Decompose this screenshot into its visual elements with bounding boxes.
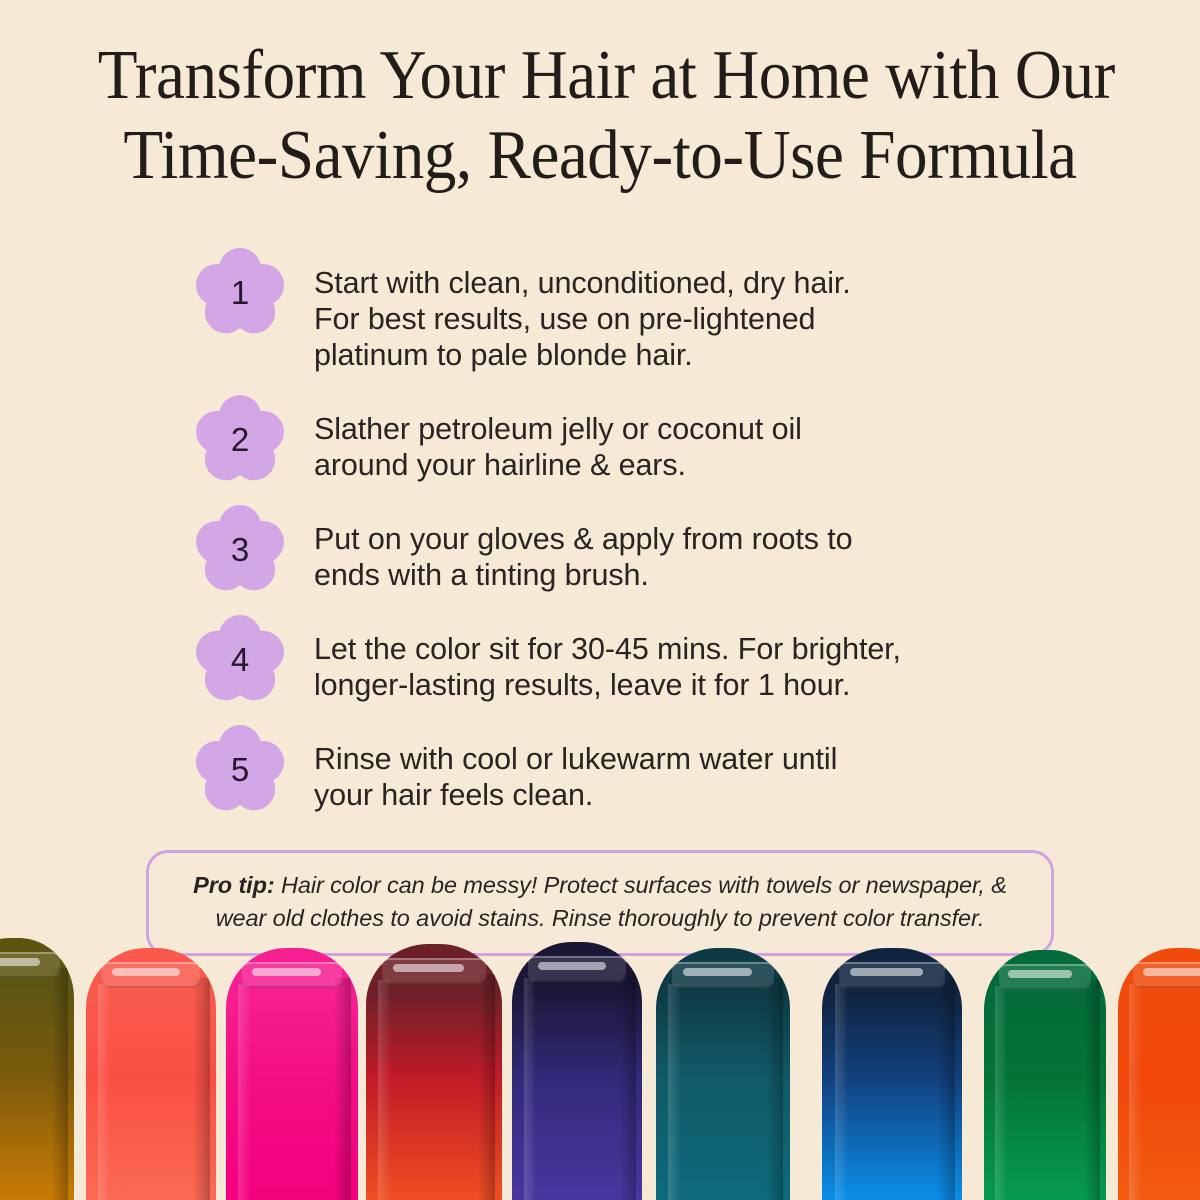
deep-purple-bottle xyxy=(512,942,642,1200)
olive-green-bottle xyxy=(0,938,74,1200)
bottle-shadow xyxy=(334,978,351,1200)
list-item: 1 Start with clean, unconditioned, dry h… xyxy=(196,248,1056,373)
bottle-gloss xyxy=(393,964,464,972)
hot-pink-bottle xyxy=(226,948,358,1200)
bottle-shadow xyxy=(1084,980,1100,1200)
orange-bottle xyxy=(1118,948,1200,1200)
bottle-highlight xyxy=(835,984,848,1200)
title-line-2: Time-Saving, Ready-to-Use Formula xyxy=(98,116,1102,196)
bottle-shadow xyxy=(937,978,955,1200)
step-text-line: Start with clean, unconditioned, dry hai… xyxy=(314,265,1056,301)
step-number: 3 xyxy=(196,505,284,593)
bottle-shadow xyxy=(619,972,636,1200)
step-text-line: around your hairline & ears. xyxy=(314,447,1056,483)
pro-tip-line-1: Pro tip: Hair color can be messy! Protec… xyxy=(175,869,1025,902)
step-number: 4 xyxy=(196,615,284,703)
step-text-line: longer-lasting results, leave it for 1 h… xyxy=(314,667,1056,703)
step-text-line: Put on your gloves & apply from roots to xyxy=(314,521,1056,557)
teal-bottle xyxy=(656,948,790,1200)
bottle-gloss xyxy=(683,968,753,976)
step-text: Rinse with cool or lukewarm water until … xyxy=(314,725,1056,813)
bottle-highlight xyxy=(238,984,250,1200)
poster-root: Transform Your Hair at Home with Our Tim… xyxy=(0,0,1200,1200)
flower-badge-3: 3 xyxy=(196,505,284,593)
bottle-highlight xyxy=(668,984,680,1200)
flower-badge-1: 1 xyxy=(196,248,284,336)
flower-badge-5: 5 xyxy=(196,725,284,813)
bottle-gloss xyxy=(1143,968,1200,976)
list-item: 2 Slather petroleum jelly or coconut oil… xyxy=(196,395,1056,483)
bottle-highlight xyxy=(98,984,110,1200)
title-line-1: Transform Your Hair at Home with Our xyxy=(98,36,1102,116)
list-item: 4 Let the color sit for 30-45 mins. For … xyxy=(196,615,1056,703)
step-text: Slather petroleum jelly or coconut oil a… xyxy=(314,395,1056,483)
coral-red-bottle xyxy=(86,948,216,1200)
pro-tip-label: Pro tip: xyxy=(193,872,274,898)
step-text-line: For best results, use on pre-lightened xyxy=(314,301,1056,337)
step-number: 2 xyxy=(196,395,284,483)
list-item: 5 Rinse with cool or lukewarm water unti… xyxy=(196,725,1056,813)
step-text-line: Let the color sit for 30-45 mins. For br… xyxy=(314,631,1056,667)
flower-badge-2: 2 xyxy=(196,395,284,483)
dark-red-bottle xyxy=(366,944,502,1200)
pro-tip-line-2: wear old clothes to avoid stains. Rinse … xyxy=(175,902,1025,935)
page-title: Transform Your Hair at Home with Our Tim… xyxy=(60,36,1140,196)
navy-blue-bottle xyxy=(822,948,962,1200)
bottle-gloss xyxy=(112,968,180,976)
bottle-shadow xyxy=(478,974,496,1200)
emerald-green-bottle xyxy=(984,950,1106,1200)
step-text-line: platinum to pale blonde hair. xyxy=(314,337,1056,373)
bottle-gloss xyxy=(850,968,923,976)
step-text-line: Slather petroleum jelly or coconut oil xyxy=(314,411,1056,447)
step-text: Let the color sit for 30-45 mins. For br… xyxy=(314,615,1056,703)
bottle-shadow xyxy=(766,978,783,1200)
bottle-gloss xyxy=(0,958,40,966)
step-number: 5 xyxy=(196,725,284,813)
flower-badge-4: 4 xyxy=(196,615,284,703)
step-number: 1 xyxy=(196,248,284,336)
bottle-highlight xyxy=(378,980,390,1200)
bottle-shadow xyxy=(193,978,210,1200)
bottle-shadow xyxy=(52,968,68,1200)
pro-tip-text: Hair color can be messy! Protect surface… xyxy=(281,872,1007,898)
bottle-gloss xyxy=(1008,970,1071,978)
step-text-line: your hair feels clean. xyxy=(314,777,1056,813)
step-text-line: Rinse with cool or lukewarm water until xyxy=(314,741,1056,777)
step-text: Put on your gloves & apply from roots to… xyxy=(314,505,1056,593)
bottle-highlight xyxy=(524,978,536,1200)
step-text: Start with clean, unconditioned, dry hai… xyxy=(314,248,1056,373)
bottle-gloss xyxy=(252,968,321,976)
bottle-highlight xyxy=(995,986,1006,1200)
step-text-line: ends with a tinting brush. xyxy=(314,557,1056,593)
product-bottles-strip xyxy=(0,938,1200,1200)
steps-list: 1 Start with clean, unconditioned, dry h… xyxy=(196,248,1056,835)
bottle-gloss xyxy=(538,962,606,970)
bottle-highlight xyxy=(1129,984,1140,1200)
list-item: 3 Put on your gloves & apply from roots … xyxy=(196,505,1056,593)
